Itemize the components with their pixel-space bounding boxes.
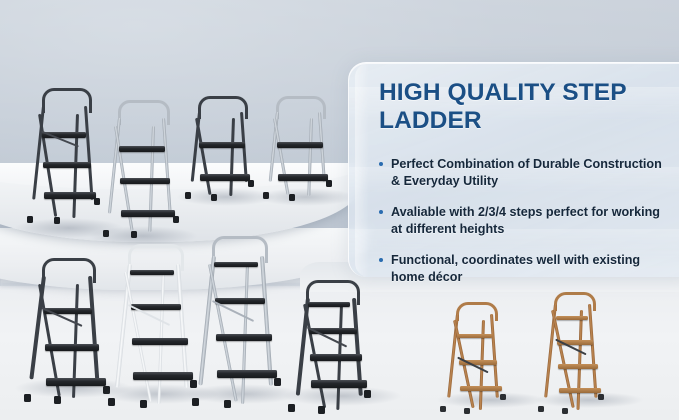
ladder-foot-left: [288, 404, 295, 412]
ladder-rail-right: [176, 264, 188, 388]
panel-edge-highlight: [355, 63, 369, 277]
ladder-tread-2: [45, 344, 99, 351]
bullet-dot-icon: [379, 162, 383, 166]
ladder-tread-1: [556, 316, 588, 320]
ladder-back-leg-right: [577, 310, 583, 410]
panel-content: HIGH QUALITY STEP LADDER Perfect Combina…: [379, 79, 665, 287]
bullet-dot-icon: [379, 210, 383, 214]
ladder-back-leg-left: [208, 264, 238, 402]
ladder-tread-4: [133, 372, 193, 380]
ladder-back-leg-left: [273, 118, 289, 195]
ladder-foot-left: [103, 230, 109, 237]
ladder-foot-left: [263, 192, 269, 199]
feature-text: Functional, coordinates well with existi…: [391, 253, 640, 284]
feature-panel: HIGH QUALITY STEP LADDER Perfect Combina…: [348, 62, 679, 277]
list-item: Functional, coordinates well with existi…: [379, 252, 665, 286]
ladder-tread-3: [121, 210, 175, 217]
ladder-tread-3: [310, 354, 362, 361]
ladder-foot-right: [54, 217, 60, 224]
ladder-foot-right: [54, 396, 61, 404]
ladder-wood-3step-floor: [438, 302, 528, 410]
ladder-foot-front: [326, 180, 332, 187]
feature-text: Avaliable with 2/3/4 steps perfect for w…: [391, 205, 660, 236]
ladder-silver-2step-top: [258, 96, 348, 196]
ladder-tread-2: [43, 162, 91, 168]
ladder-foot-right: [140, 400, 147, 408]
ladder-foot-front: [248, 180, 254, 187]
ladder-foot-front: [173, 216, 179, 223]
ladder-rail-right: [162, 118, 172, 214]
feature-text: Perfect Combination of Durable Construct…: [391, 157, 662, 188]
ladder-back-leg-right: [229, 118, 234, 196]
ladder-tread-4: [559, 388, 601, 393]
ladder-tread-1: [130, 270, 174, 275]
page-title-line-2: LADDER: [379, 107, 482, 134]
ladder-tread-1: [308, 302, 350, 307]
ladder-foot-left: [185, 192, 191, 199]
list-item: Perfect Combination of Durable Construct…: [379, 156, 665, 190]
ladder-tread-4: [217, 370, 277, 378]
ladder-tread-2: [278, 174, 328, 181]
ladder-foot-left: [108, 398, 115, 406]
ladder-foot-front: [500, 394, 506, 400]
ladder-tread-3: [460, 386, 502, 391]
ladder-tread-2: [215, 298, 265, 304]
ladder-foot-front: [364, 390, 371, 398]
ladder-tread-3: [216, 334, 272, 341]
ladder-black-4step-floor: [284, 280, 394, 408]
ladder-tread-3: [132, 338, 188, 345]
ladder-rail-left: [29, 276, 45, 380]
ladder-foot-front: [274, 378, 281, 386]
list-item: Avaliable with 2/3/4 steps perfect for w…: [379, 204, 665, 238]
ladder-silver-3step-top: [92, 100, 188, 240]
ladder-foot-left: [192, 398, 199, 406]
ladder-tread-3: [558, 364, 598, 369]
page-title: HIGH QUALITY STEP LADDER: [379, 79, 665, 135]
ladder-back-leg-left: [195, 118, 211, 195]
ladder-tread-3: [46, 378, 106, 386]
ladder-foot-front: [598, 394, 604, 400]
bullet-dot-icon: [379, 258, 383, 262]
ladder-tread-3: [44, 192, 96, 199]
ladder-tread-2: [120, 178, 170, 184]
ladder-back-leg-left: [124, 272, 152, 402]
ladder-foot-left: [27, 216, 33, 223]
ladder-rail-right: [588, 304, 598, 398]
ladder-rail-right: [88, 276, 99, 380]
ladder-back-leg-right: [307, 118, 312, 196]
ladder-foot-left: [440, 406, 446, 412]
ladder-back-leg-left: [551, 310, 574, 408]
ladder-foot-right: [464, 408, 470, 414]
ladder-foot-right: [562, 408, 568, 414]
ladder-tread-1: [277, 142, 323, 148]
ladder-silver-4step-floor: [188, 236, 298, 404]
ladder-tread-1: [199, 142, 245, 148]
page-title-line-1: HIGH QUALITY STEP: [379, 79, 627, 106]
ladder-foot-right: [131, 231, 137, 238]
ladder-tread-1: [119, 146, 165, 152]
ladder-tread-1: [458, 334, 492, 338]
ladder-wood-4step-floor: [536, 292, 626, 410]
ladder-foot-right: [289, 194, 295, 201]
feature-list: Perfect Combination of Durable Construct…: [379, 156, 665, 287]
ladder-foot-right: [318, 406, 325, 414]
ladder-foot-left: [538, 406, 544, 412]
ladder-rail-right: [260, 256, 273, 386]
ladder-tread-1: [214, 262, 258, 267]
product-banner: HIGH QUALITY STEP LADDER Perfect Combina…: [0, 0, 679, 420]
ladder-foot-right: [211, 194, 217, 201]
ladder-tread-2: [200, 174, 250, 181]
ladder-black-2step-top: [180, 96, 270, 196]
ladder-tread-4: [311, 380, 367, 388]
ladder-foot-right: [224, 400, 231, 408]
ladder-foot-left: [24, 394, 31, 402]
